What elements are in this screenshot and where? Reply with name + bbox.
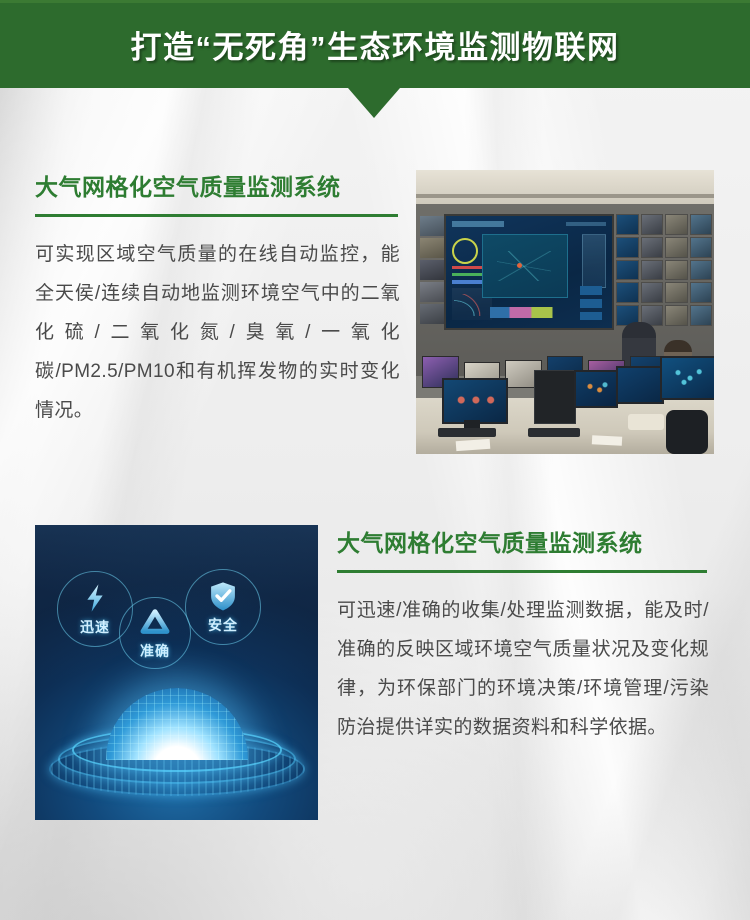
- section-two-body: 可迅速/准确的收集/处理监测数据，能及时/准确的反映区域环境空气质量状况及变化规…: [337, 591, 709, 747]
- desk-monitor-4: [660, 356, 714, 400]
- desk-phone: [628, 414, 664, 430]
- section-two-underline: [337, 570, 707, 573]
- desk-monitor-3: [616, 366, 664, 404]
- data-dome-graphic: [35, 668, 318, 798]
- dome-mesh-overlay: [106, 688, 248, 760]
- feature-label-fast: 迅速: [80, 617, 110, 637]
- video-wall-map: [482, 234, 568, 298]
- section-one-title: 大气网格化空气质量监测系统: [35, 168, 400, 202]
- shield-check-icon: [206, 579, 240, 613]
- feature-label-accurate: 准确: [140, 641, 170, 661]
- control-room-image: 环境监测指挥中心大屏监控室: [416, 170, 714, 454]
- header-top-rule: [0, 0, 750, 3]
- page-header: 打造“无死角”生态环境监测物联网: [0, 0, 750, 88]
- monitor-rear-view: [534, 370, 576, 424]
- keyboard-2: [528, 428, 580, 437]
- left-monitor-stack: [420, 216, 444, 324]
- triangle-icon: [138, 605, 172, 639]
- video-wall-header-right: [566, 222, 606, 226]
- section-data-collection: 大气网格化空气质量监测系统 可迅速/准确的收集/处理监测数据，能及时/准确的反映…: [337, 524, 709, 747]
- camera-feed-grid: [616, 214, 712, 326]
- feature-label-safe: 安全: [208, 615, 238, 635]
- page-title: 打造“无死角”生态环境监测物联网: [131, 22, 620, 67]
- video-wall-button-row: [490, 307, 568, 318]
- section-one-underline: [35, 214, 398, 217]
- office-chair: [666, 410, 708, 454]
- lightning-bolt-icon: [78, 581, 112, 615]
- desk-monitor-2: [574, 370, 618, 408]
- video-wall-highlight-ring: [452, 238, 478, 264]
- video-wall-button-column: [580, 286, 602, 320]
- keyboard-1: [438, 428, 496, 437]
- ceiling: [416, 170, 714, 204]
- section-two-title: 大气网格化空气质量监测系统: [337, 524, 709, 558]
- header-arrow-notch: [348, 88, 400, 118]
- section-air-quality-monitoring: 大气网格化空气质量监测系统 可实现区域空气质量的在线自动监控，能全天侯/连续自动…: [35, 168, 400, 430]
- section-one-body: 可实现区域空气质量的在线自动监控，能全天侯/连续自动地监测环境空气中的二氧化硫/…: [35, 235, 400, 430]
- video-wall-header: [452, 221, 504, 227]
- paper-document-2: [592, 435, 622, 446]
- feature-badge-accurate: 准确: [119, 597, 191, 669]
- video-wall-side-panel: [582, 234, 606, 288]
- feature-badge-safe: 安全: [185, 569, 261, 645]
- video-wall-screen: [444, 214, 614, 330]
- page-root: 打造“无死角”生态环境监测物联网 大气网格化空气质量监测系统 可实现区域空气质量…: [0, 0, 750, 920]
- video-wall-legend: [452, 266, 482, 284]
- tech-dome-image: 迅速 准确 安全: [35, 525, 318, 820]
- foreground-monitor: [442, 378, 508, 424]
